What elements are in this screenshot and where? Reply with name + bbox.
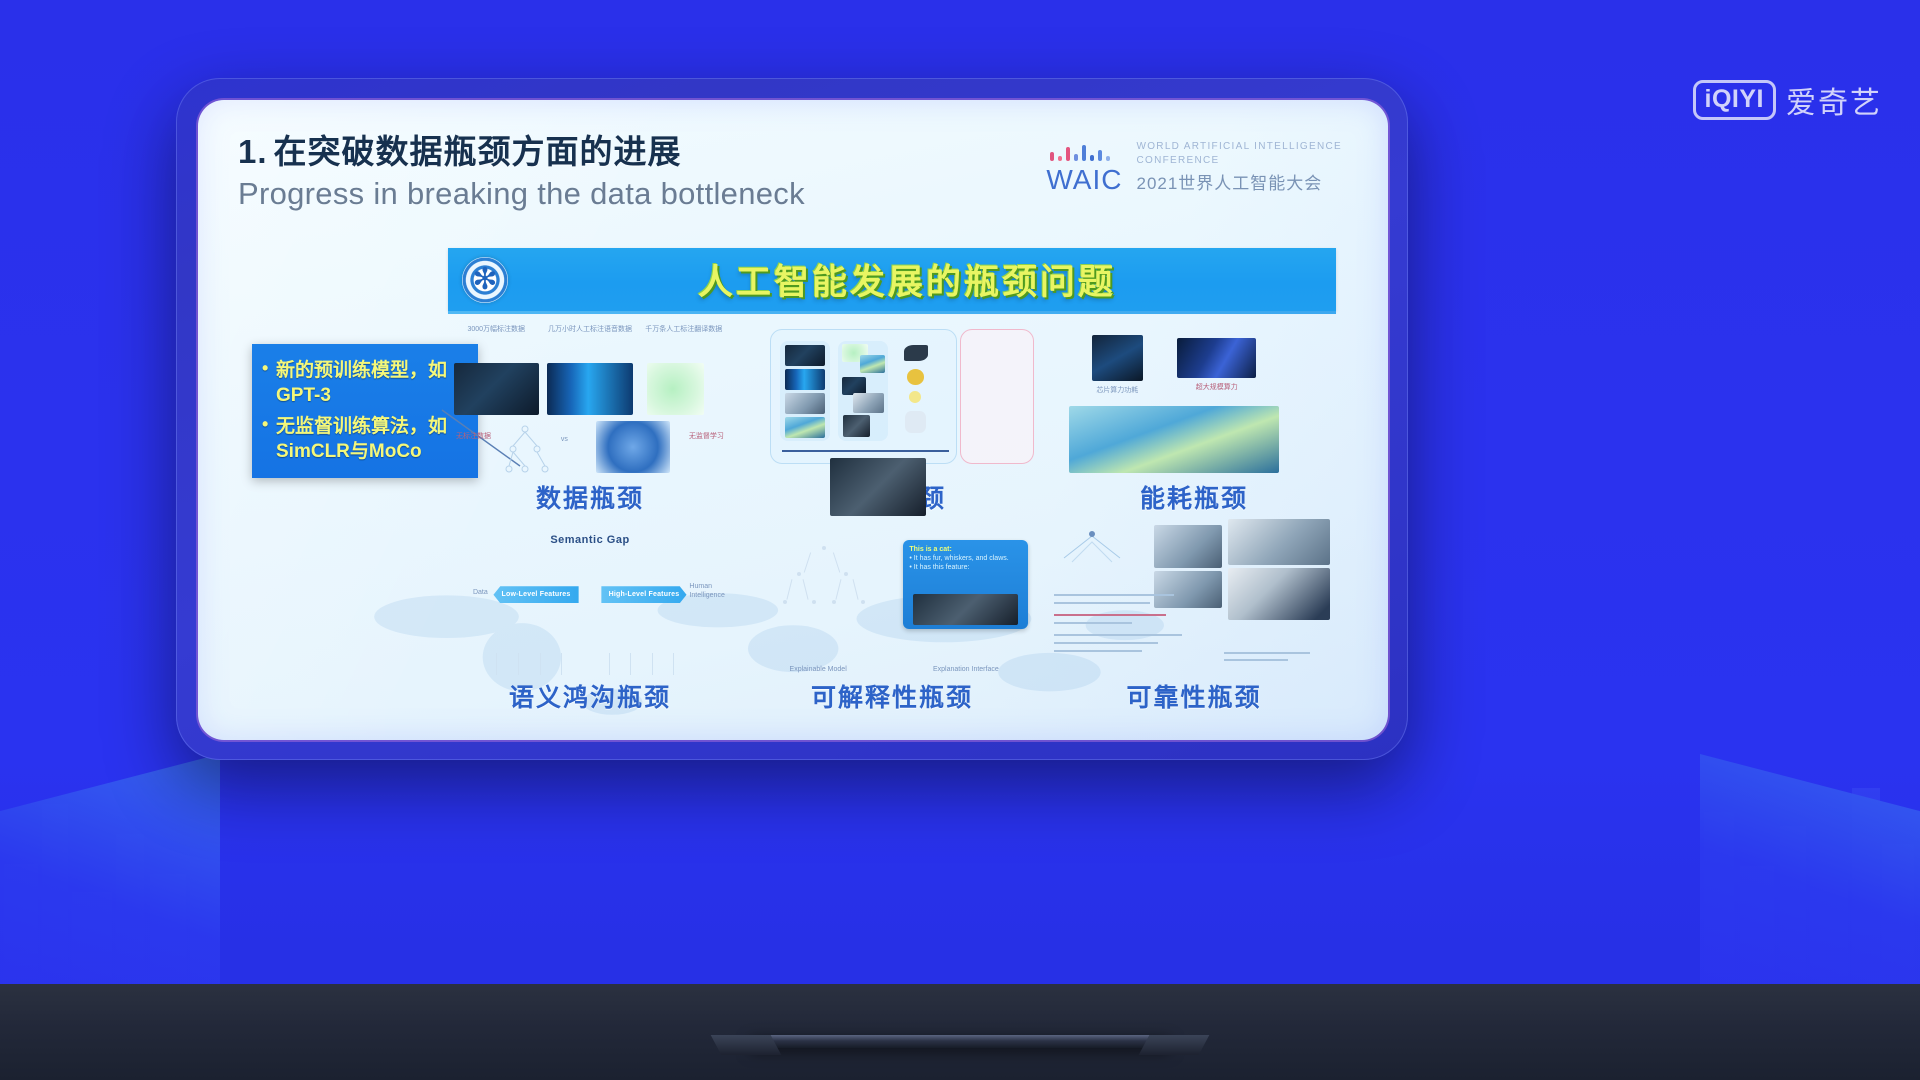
section-banner: 人工智能发展的瓶颈问题: [448, 248, 1336, 311]
bottleneck-cell-reliability: 可靠性瓶颈: [1052, 525, 1336, 718]
decision-tree-icon: [773, 546, 875, 632]
bottleneck-cell-semantic-gap: Semantic Gap Data Low-Level Features Hig…: [448, 525, 732, 718]
stage-background: iQIYI 爱奇艺 1.在突破数据瓶颈方面的进展 Progress: [0, 0, 1920, 1080]
network-diagram-icon: [505, 421, 585, 476]
explanation-interface-card: This is a cat: • It has fur, whiskers, a…: [903, 540, 1028, 629]
test-sample-panel: [960, 329, 1034, 464]
thumbnail-cat-input: [830, 458, 927, 516]
academy-emblem-icon: [462, 257, 508, 303]
slide-title-number: 1.: [238, 133, 268, 170]
cell-figure: [1052, 525, 1336, 678]
low-level-features-arrow: Low-Level Features: [493, 586, 578, 603]
bottleneck-grid: 3000万幅标注数据 几万小时人工标注语音数据 千万条人工标注翻译数据 无标注数…: [448, 326, 1336, 718]
thumbnail-labeled-images: [454, 363, 539, 415]
cell-figure: 3000万幅标注数据 几万小时人工标注语音数据 千万条人工标注翻译数据 无标注数…: [448, 326, 732, 479]
explanation-card-title: This is a cat:: [909, 545, 1022, 554]
waic-wordmark: WAIC: [1046, 164, 1122, 196]
thumbnail-datacenter: [1177, 338, 1257, 378]
semantic-gap-title: Semantic Gap: [448, 534, 732, 546]
cell-figure: Semantic Gap Data Low-Level Features Hig…: [448, 525, 732, 678]
thumbnail-chip: [1092, 335, 1143, 381]
thumbnail-speech-waveform: [547, 363, 632, 415]
embedded-slide: 人工智能发展的瓶颈问题 新的预训练模型，如GPT-3 无监督训练算法，如SimC…: [448, 248, 1336, 718]
display-bezel: 1.在突破数据瓶颈方面的进展 Progress in breaking the …: [176, 78, 1408, 760]
waic-wordmark-group: WAIC: [1046, 141, 1122, 196]
callout-list: 新的预训练模型，如GPT-3 无监督训练算法，如SimCLR与MoCo: [262, 358, 466, 464]
thumbnail-brain-graphic: [596, 421, 670, 473]
semantic-gap-ticks: [488, 653, 704, 675]
dataset-column: [838, 341, 888, 442]
explainable-model-label: Explainable Model: [761, 666, 875, 675]
thumbnail-translation-graph: [647, 363, 704, 415]
bottleneck-cell-data: 3000万幅标注数据 几万小时人工标注语音数据 千万条人工标注翻译数据 无标注数…: [448, 326, 732, 519]
banner-underline: [448, 311, 1336, 314]
cell-label: 可靠性瓶颈: [1052, 678, 1336, 718]
waic-text-group: WORLD ARTIFICIAL INTELLIGENCE CONFERENCE…: [1136, 140, 1342, 196]
report-caption-lines: [1222, 650, 1330, 678]
waic-chinese-name: 2021世界人工智能大会: [1136, 169, 1342, 194]
section-banner-title: 人工智能发展的瓶颈问题: [508, 254, 1336, 305]
dataset-axis: [782, 450, 949, 452]
semantic-gap-right-label: Human Intelligence: [689, 583, 729, 601]
stage-floor: [0, 984, 1920, 1080]
lidar-diagram-icon: [1058, 528, 1155, 580]
bottleneck-cell-energy: 芯片算力功耗 超大规模算力 能耗瓶颈: [1052, 326, 1336, 519]
cell-label: 语义鸿沟瓶颈: [448, 678, 732, 718]
iqiyi-brand-text: 爱奇艺: [1786, 78, 1882, 122]
slide-content: 1.在突破数据瓶颈方面的进展 Progress in breaking the …: [198, 100, 1388, 740]
bottleneck-cell-explainability: This is a cat: • It has fur, whiskers, a…: [750, 525, 1034, 718]
dataset-column: [780, 341, 830, 442]
cell-label: 数据瓶颈: [448, 479, 732, 519]
callout-item: 无监督训练算法，如SimCLR与MoCo: [262, 414, 466, 464]
highlight-callout: 新的预训练模型，如GPT-3 无监督训练算法，如SimCLR与MoCo: [252, 344, 478, 478]
figure-caption: 3000万幅标注数据: [454, 326, 539, 335]
waic-bars-icon: [1050, 141, 1122, 161]
figure-caption: 超大规模算力: [1177, 384, 1257, 393]
thumbnail-collision: [1228, 519, 1330, 565]
callout-item: 新的预训练模型，如GPT-3: [262, 358, 466, 408]
thumbnail-roadway: [1154, 525, 1222, 568]
figure-caption: 芯片算力功耗: [1075, 387, 1160, 396]
explanation-card-line: • It has this feature:: [909, 563, 1022, 572]
cell-figure: 芯片算力功耗 超大规模算力: [1052, 326, 1336, 479]
explanation-card-image: [913, 594, 1018, 624]
report-text-lines: [1052, 592, 1217, 669]
cell-label: 可解释性瓶颈: [750, 678, 1034, 718]
explanation-interface-label: Explanation Interface: [903, 666, 1028, 675]
semantic-gap-left-label: Data: [454, 589, 488, 598]
slide-title-text: 在突破数据瓶颈方面的进展: [274, 133, 682, 170]
figure-annotation: 无监督学习: [681, 433, 732, 442]
figure-caption: 几万小时人工标注语音数据: [547, 326, 632, 335]
thumbnail-energy-landscape: [1069, 406, 1279, 473]
dataset-column: [895, 341, 947, 442]
figure-annotation: 无标注数据: [448, 433, 499, 442]
cell-label: 能耗瓶颈: [1052, 479, 1336, 519]
iqiyi-watermark: iQIYI 爱奇艺: [1693, 78, 1882, 122]
iqiyi-logo-badge: iQIYI: [1693, 80, 1776, 120]
cell-figure: This is a cat: • It has fur, whiskers, a…: [750, 525, 1034, 678]
slide-header: 1.在突破数据瓶颈方面的进展 Progress in breaking the …: [238, 134, 1348, 242]
cell-figure: [750, 326, 1034, 479]
thumbnail-vehicle-damage: [1228, 568, 1330, 620]
presentation-screen: 1.在突破数据瓶颈方面的进展 Progress in breaking the …: [198, 100, 1388, 740]
waic-logo: WAIC WORLD ARTIFICIAL INTELLIGENCE CONFE…: [1046, 140, 1342, 196]
waic-english-name: WORLD ARTIFICIAL INTELLIGENCE CONFERENCE: [1136, 140, 1342, 167]
figure-caption: 千万条人工标注翻译数据: [641, 326, 726, 335]
image-dataset-panel: [770, 329, 957, 464]
display-stand: [750, 1035, 1170, 1048]
high-level-features-arrow: High-Level Features: [601, 586, 686, 603]
explanation-card-line: • It has fur, whiskers, and claws.: [909, 554, 1022, 563]
